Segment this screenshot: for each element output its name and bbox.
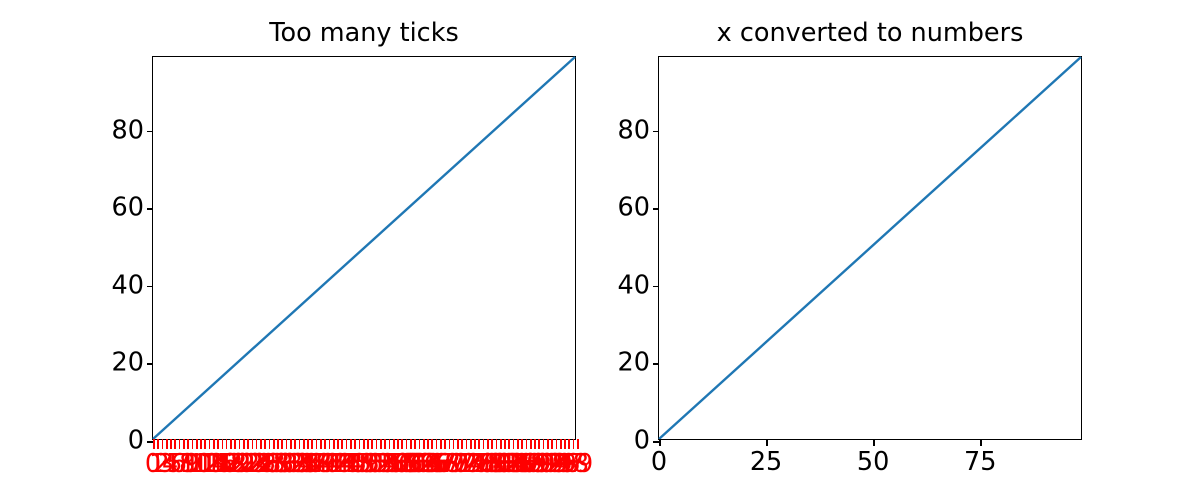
x-tick-label: 50: [857, 450, 889, 476]
y-tick-label: 0: [128, 428, 144, 454]
y-tick-label: 80: [618, 118, 650, 144]
x-tick-mark: [239, 439, 241, 449]
x-tick-mark: [521, 439, 523, 449]
x-tick-label: 75: [964, 450, 996, 476]
x-tick-mark: [543, 439, 545, 449]
x-tick-mark: [359, 439, 361, 449]
x-tick-mark: [247, 439, 249, 449]
x-tick-label: 25: [750, 450, 782, 476]
y-tick-label: 20: [112, 351, 144, 377]
x-tick-mark: [560, 439, 562, 449]
x-tick-mark: [436, 439, 438, 449]
x-tick-mark: [252, 439, 254, 449]
x-tick-mark: [307, 439, 309, 449]
x-tick-mark: [461, 439, 463, 449]
x-tick-mark: [504, 439, 506, 449]
x-tick-mark: [449, 439, 451, 449]
x-tick-mark: [166, 439, 168, 449]
x-tick-mark: [440, 439, 442, 449]
x-tick-mark: [320, 439, 322, 449]
y-tick-mark: [147, 363, 154, 365]
x-tick-mark: [491, 439, 493, 449]
x-tick-mark: [226, 439, 228, 449]
x-tick-mark: [183, 439, 185, 449]
x-tick-mark: [209, 439, 211, 449]
x-tick-mark: [513, 439, 515, 449]
x-tick-mark: [294, 439, 296, 449]
x-tick-mark: [179, 439, 181, 449]
x-tick-mark: [273, 439, 275, 449]
x-tick-mark: [530, 439, 532, 449]
y-tick-label: 0: [634, 428, 650, 454]
line-series-left: [153, 57, 575, 439]
x-tick-mark: [337, 439, 339, 449]
x-tick-mark: [389, 439, 391, 449]
x-tick-mark: [547, 439, 549, 449]
x-tick-mark: [371, 439, 373, 449]
x-tick-mark: [286, 439, 288, 449]
y-tick-label: 40: [618, 273, 650, 299]
x-tick-mark: [174, 439, 176, 449]
x-tick-mark: [217, 439, 219, 449]
matplotlib-figure: Too many ticks 020406080 012345678910111…: [0, 0, 1200, 500]
subplot-x-converted-to-numbers: x converted to numbers 020406080 0255075: [658, 56, 1082, 440]
x-tick-mark: [517, 439, 519, 449]
x-tick-mark: [500, 439, 502, 449]
x-tick-mark: [187, 439, 189, 449]
x-tick-mark: [222, 439, 224, 449]
x-tick-mark: [204, 439, 206, 449]
x-tick-mark: [483, 439, 485, 449]
x-tick-mark: [526, 439, 528, 449]
x-tick-mark: [376, 439, 378, 449]
x-tick-mark: [980, 439, 982, 446]
x-tick-mark: [243, 439, 245, 449]
x-tick-mark: [397, 439, 399, 449]
x-tick-mark: [264, 439, 266, 449]
x-tick-mark: [230, 439, 232, 449]
y-tick-mark: [653, 286, 660, 288]
x-tick-mark: [153, 439, 155, 449]
y-tick-mark: [653, 363, 660, 365]
x-tick-mark: [329, 439, 331, 449]
x-tick-mark: [200, 439, 202, 449]
x-tick-mark: [367, 439, 369, 449]
x-tick-mark: [384, 439, 386, 449]
x-tick-mark: [162, 439, 164, 449]
x-tick-mark: [393, 439, 395, 449]
x-tick-mark: [453, 439, 455, 449]
subplot-title-left: Too many ticks: [153, 21, 575, 47]
x-tick-mark: [401, 439, 403, 449]
x-tick-mark: [419, 439, 421, 449]
y-tick-label: 20: [618, 351, 650, 377]
x-tick-mark: [470, 439, 472, 449]
x-tick-mark: [431, 439, 433, 449]
y-tick-mark: [653, 208, 660, 210]
x-tick-mark: [213, 439, 215, 449]
x-tick-mark: [551, 439, 553, 449]
x-tick-mark: [466, 439, 468, 449]
x-tick-mark: [354, 439, 356, 449]
x-tick-mark: [192, 439, 194, 449]
x-tick-mark: [406, 439, 408, 449]
x-tick-mark: [659, 439, 661, 446]
x-tick-mark: [427, 439, 429, 449]
x-tick-mark: [341, 439, 343, 449]
x-tick-mark: [496, 439, 498, 449]
subplot-too-many-ticks: Too many ticks 020406080 012345678910111…: [152, 56, 576, 440]
x-tick-mark: [260, 439, 262, 449]
x-tick-mark: [568, 439, 570, 449]
x-tick-mark: [444, 439, 446, 449]
x-tick-mark: [457, 439, 459, 449]
x-tick-mark: [410, 439, 412, 449]
x-tick-mark: [766, 439, 768, 446]
x-tick-mark: [256, 439, 258, 449]
x-tick-mark: [281, 439, 283, 449]
y-tick-mark: [147, 208, 154, 210]
x-tick-mark: [311, 439, 313, 449]
x-tick-mark: [577, 439, 579, 449]
x-tick-mark: [573, 439, 575, 449]
y-tick-mark: [653, 131, 660, 133]
x-tick-mark: [556, 439, 558, 449]
x-tick-mark: [277, 439, 279, 449]
x-tick-mark: [170, 439, 172, 449]
y-tick-mark: [147, 131, 154, 133]
x-tick-label: 0: [651, 450, 667, 476]
x-tick-mark: [290, 439, 292, 449]
x-tick-mark: [324, 439, 326, 449]
y-tick-mark: [147, 286, 154, 288]
x-tick-mark: [534, 439, 536, 449]
x-tick-mark: [363, 439, 365, 449]
x-tick-mark: [380, 439, 382, 449]
x-tick-mark: [234, 439, 236, 449]
x-tick-mark: [873, 439, 875, 446]
x-tick-mark: [564, 439, 566, 449]
y-tick-label: 80: [112, 118, 144, 144]
x-tick-mark: [299, 439, 301, 449]
x-tick-mark: [538, 439, 540, 449]
x-tick-mark: [474, 439, 476, 449]
x-tick-label: 99: [561, 452, 593, 478]
x-tick-mark: [487, 439, 489, 449]
x-tick-mark: [508, 439, 510, 449]
x-tick-mark: [316, 439, 318, 449]
y-tick-label: 40: [112, 273, 144, 299]
x-tick-mark: [478, 439, 480, 449]
subplot-title-right: x converted to numbers: [659, 21, 1081, 47]
x-tick-mark: [157, 439, 159, 449]
y-tick-label: 60: [112, 196, 144, 222]
x-tick-mark: [346, 439, 348, 449]
y-tick-label: 60: [618, 196, 650, 222]
x-tick-mark: [196, 439, 198, 449]
x-tick-mark: [269, 439, 271, 449]
line-series-right: [659, 57, 1081, 439]
x-tick-mark: [414, 439, 416, 449]
x-tick-mark: [303, 439, 305, 449]
x-tick-mark: [350, 439, 352, 449]
x-tick-mark: [423, 439, 425, 449]
x-tick-mark: [333, 439, 335, 449]
